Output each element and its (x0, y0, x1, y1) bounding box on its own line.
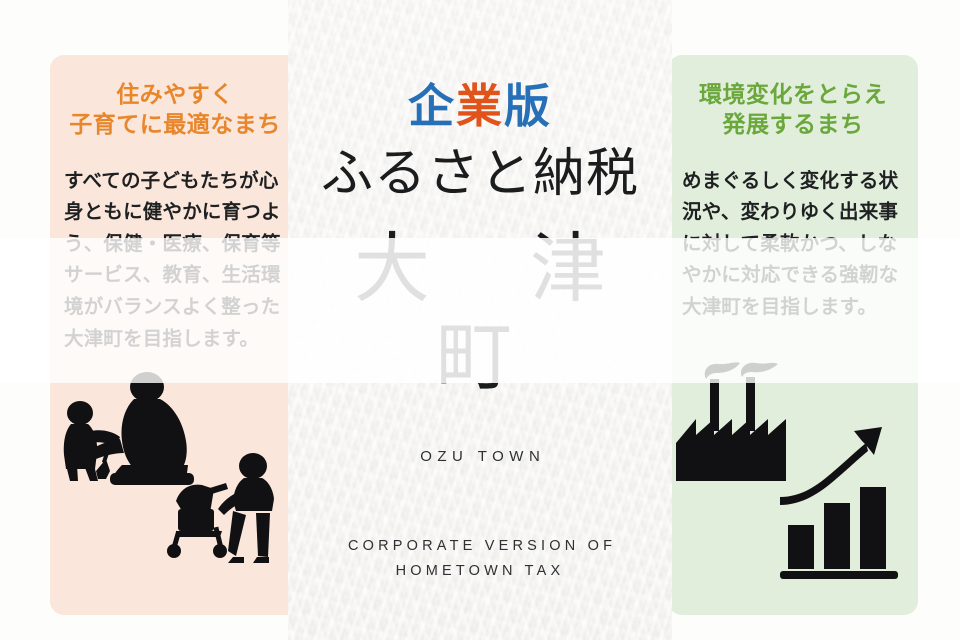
card-left-body: すべての子どもたちが心身ともに健やかに育つよう、保健・医療、保育等サービス、教育… (64, 166, 286, 355)
card-right-body: めまぐるしく変化する状況や、変わりゆく出来事に対して柔軟かつ、しなやかに対応でき… (682, 166, 904, 324)
factory-growth-illustration (668, 361, 918, 591)
badge-char-ban: 版 (504, 81, 552, 132)
badge-char-gyou: 業 (456, 81, 504, 132)
poster-canvas: 住みやすく 子育てに最適なまち すべての子どもたちが心身ともに健やかに育つよう、… (0, 0, 960, 640)
town-name-jp: 大 津 町 (288, 203, 672, 402)
corporate-edition-badge: 企業版 (288, 0, 672, 130)
card-right-heading: 環境変化をとらえ 発展するまち (682, 79, 904, 140)
town-name-romaji: OZU TOWN (288, 402, 672, 465)
badge-char-ki: 企 (408, 81, 456, 132)
tagline-english: CORPORATE VERSION OF HOMETOWN TAX (288, 534, 672, 585)
family-childcare-illustration (50, 361, 300, 591)
card-left-heading: 住みやすく 子育てに最適なまち (64, 79, 286, 140)
card-right-development[interactable]: 環境変化をとらえ 発展するまち めまぐるしく変化する状況や、変わりゆく出来事に対… (668, 55, 918, 615)
center-paper-panel: 企業版 ふるさと納税 大 津 町 OZU TOWN CORPORATE VERS… (288, 0, 672, 640)
card-left-childcare[interactable]: 住みやすく 子育てに最適なまち すべての子どもたちが心身ともに健やかに育つよう、… (50, 55, 300, 615)
program-name-title: ふるさと納税 (288, 130, 672, 203)
